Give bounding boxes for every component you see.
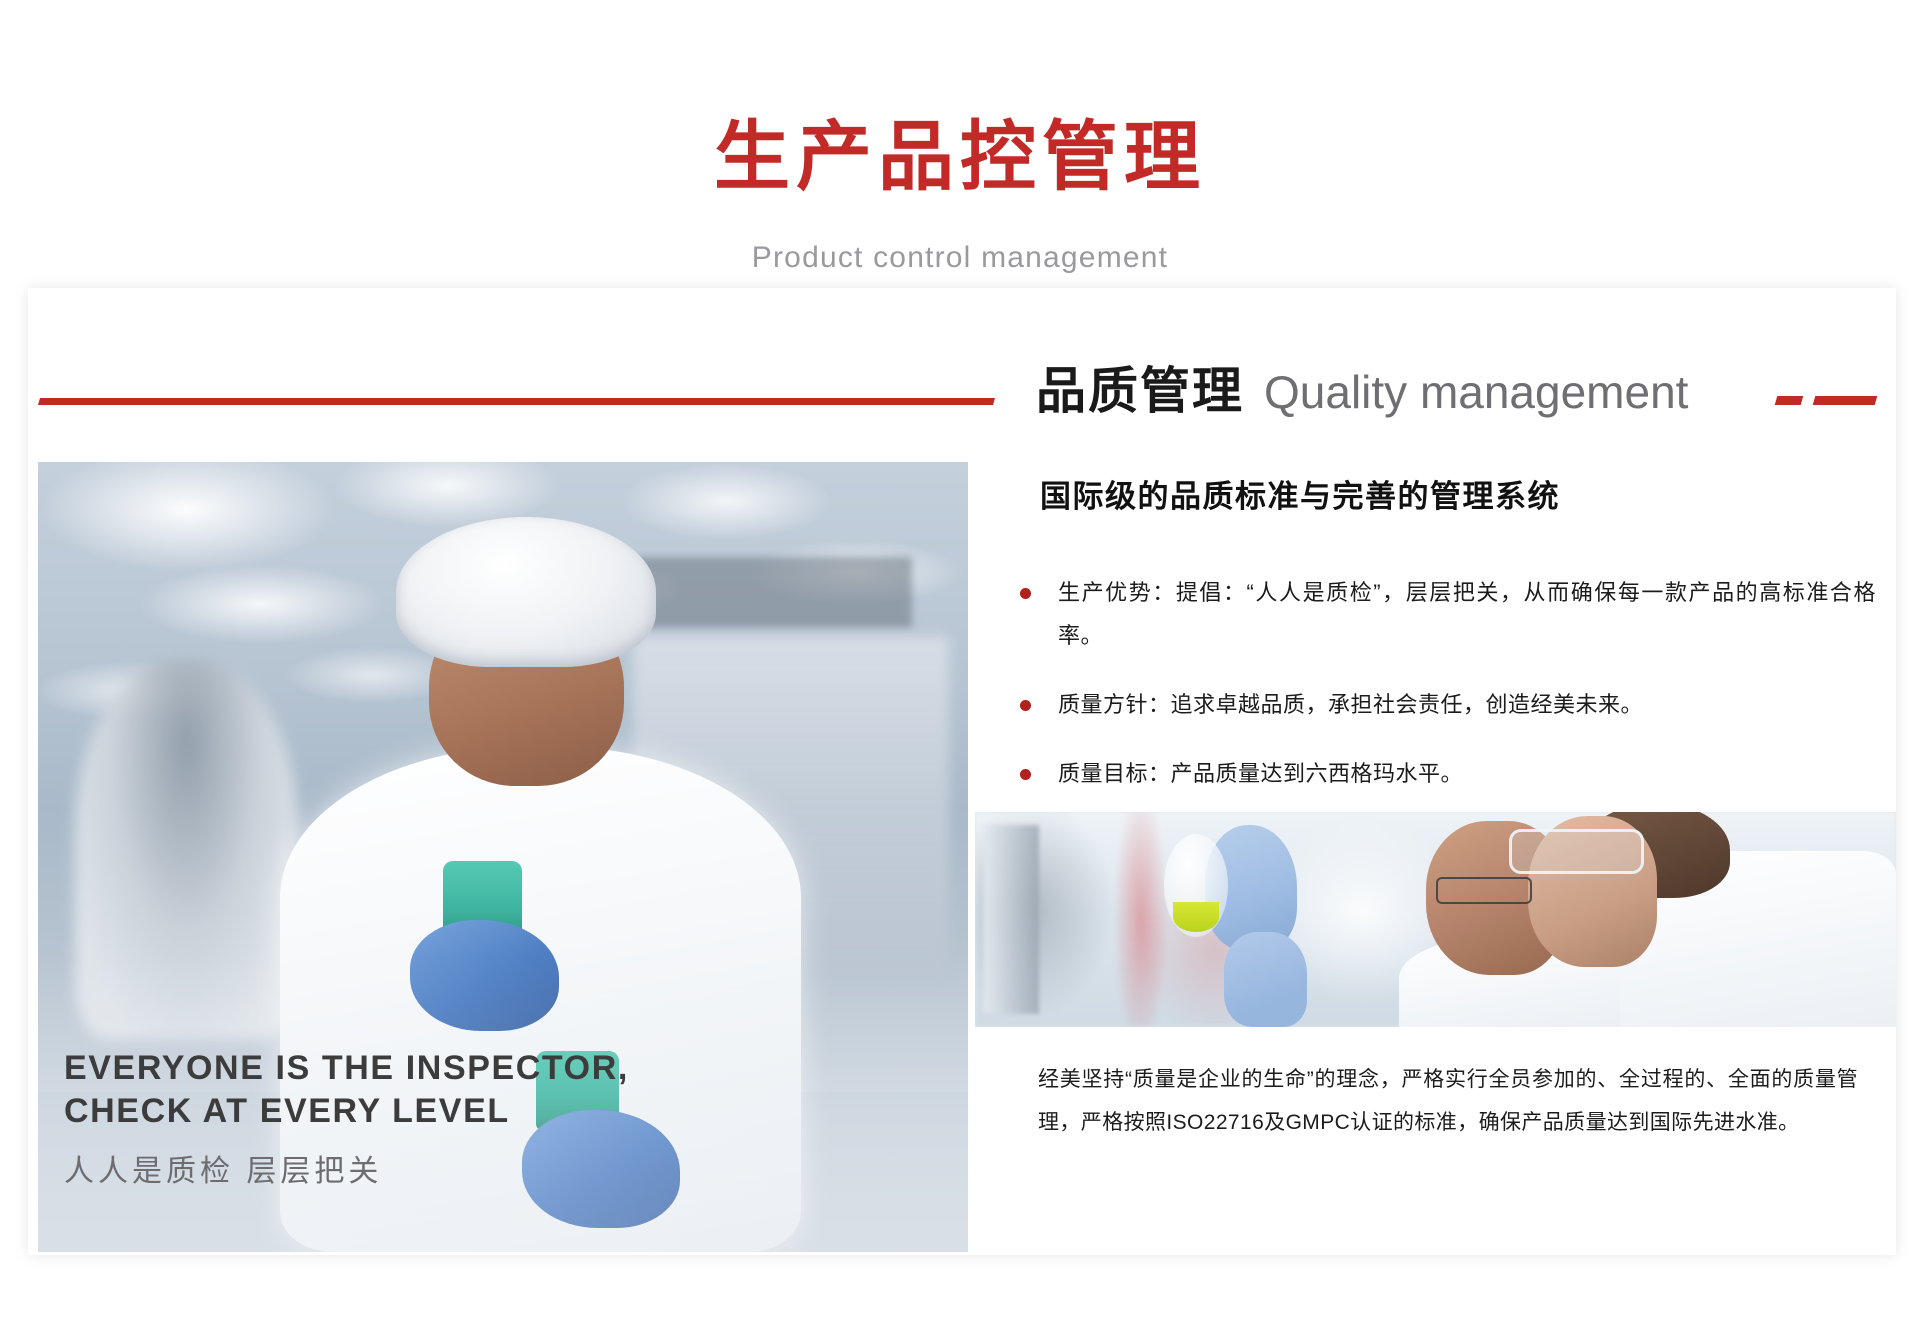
list-item-text: 质量方针：追求卓越品质，承担社会责任，创造经美未来。 <box>1058 692 1643 717</box>
overlay-headline-line1: EVERYONE IS THE INSPECTOR, <box>64 1047 764 1091</box>
laboratory-photo <box>975 812 1896 1027</box>
list-item: 质量目标：产品质量达到六西格玛水平。 <box>1016 753 1876 796</box>
main-inspection-photo: EVERYONE IS THE INSPECTOR, CHECK AT EVER… <box>38 462 968 1252</box>
overlay-headline-line2: CHECK AT EVERY LEVEL <box>64 1090 764 1134</box>
section-heading-cn: 品质管理 <box>1036 366 1244 416</box>
bullet-dot-icon <box>1020 588 1031 599</box>
section-heading-en: Quality management <box>1264 369 1688 415</box>
quality-description-paragraph: 经美坚持“质量是企业的生命”的理念，严格实行全员参加的、全过程的、全面的质量管理… <box>1038 1058 1858 1144</box>
list-item: 质量方针：追求卓越品质，承担社会责任，创造经美未来。 <box>1016 684 1876 727</box>
section-heading: 品质管理 Quality management <box>1036 366 1688 416</box>
dash-mark-large <box>1813 396 1878 405</box>
feature-bullet-list: 生产优势：提倡：“人人是质检”，层层把关，从而确保每一款产品的高标准合格率。 质… <box>1016 572 1876 822</box>
divider-rule-left <box>38 398 995 405</box>
page-header: 生产品控管理 Product control management <box>0 0 1920 290</box>
bullet-dot-icon <box>1020 769 1031 780</box>
lab-photo-eyeglasses <box>1436 877 1532 905</box>
bullet-dot-icon <box>1020 700 1031 711</box>
list-item-text: 质量目标：产品质量达到六西格玛水平。 <box>1058 761 1463 786</box>
divider-dashes-right <box>1776 396 1896 406</box>
lab-photo-gloved-hand-lower <box>1224 932 1307 1027</box>
lab-photo-safety-goggles <box>1509 829 1644 874</box>
section-subheading: 国际级的品质标准与完善的管理系统 <box>1040 478 1560 515</box>
photo-hair-net <box>396 517 656 667</box>
page-title: 生产品控管理 <box>0 120 1920 196</box>
list-item: 生产优势：提倡：“人人是质检”，层层把关，从而确保每一款产品的高标准合格率。 <box>1016 572 1876 658</box>
dash-mark-small <box>1775 396 1804 405</box>
overlay-headline-cn: 人人是质检 层层把关 <box>64 1154 764 1190</box>
page-subtitle: Product control management <box>0 243 1920 273</box>
list-item-text: 生产优势：提倡：“人人是质检”，层层把关，从而确保每一款产品的高标准合格率。 <box>1058 580 1876 648</box>
photo-ceiling-hood <box>633 557 912 628</box>
lab-photo-window-frame <box>984 825 1039 1014</box>
photo-overlay-text: EVERYONE IS THE INSPECTOR, CHECK AT EVER… <box>64 1047 764 1190</box>
